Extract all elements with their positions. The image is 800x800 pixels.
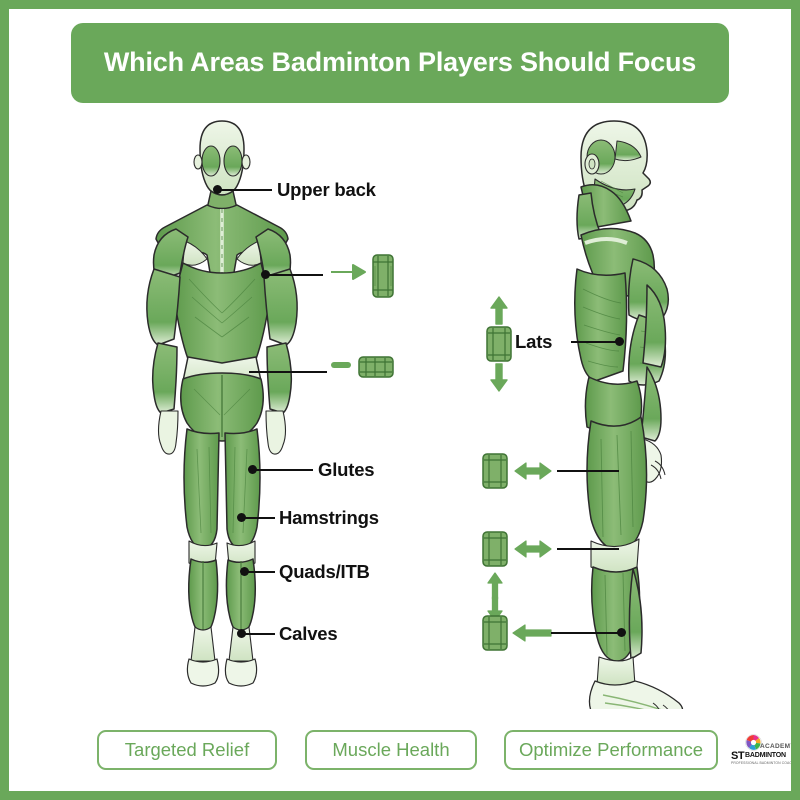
label-upper-back: Upper back (277, 179, 376, 201)
leader-glutes (255, 469, 313, 471)
roller-quad-icon (481, 527, 573, 623)
pill-optimize-performance[interactable]: Optimize Performance (504, 730, 718, 770)
leader-lats (571, 341, 619, 343)
leader-itb (557, 470, 619, 472)
infographic-page: Which Areas Badminton Players Should Foc… (9, 9, 791, 791)
pill-muscle-health[interactable]: Muscle Health (305, 730, 477, 770)
logo-tagline: PROFESSIONAL BADMINTON COACHING FOR ALL … (731, 761, 791, 765)
roller-upper-back-icon (329, 252, 395, 300)
brand-logo[interactable]: ACADEMY ST BADMINTON PROFESSIONAL BADMIN… (731, 734, 791, 772)
label-lats: Lats (515, 331, 552, 353)
label-quads-itb: Quads/ITB (279, 561, 370, 583)
leader-glute-roller (249, 371, 327, 373)
logo-badminton-text: BADMINTON (745, 752, 786, 759)
leader-calves (244, 633, 275, 635)
leader-calf (551, 632, 621, 634)
page-title: Which Areas Badminton Players Should Foc… (104, 47, 696, 78)
roller-glutes-icon (329, 349, 395, 385)
label-hamstrings: Hamstrings (279, 507, 379, 529)
label-glutes: Glutes (318, 459, 374, 481)
marker-calf-right (617, 628, 626, 637)
leader-shoulder-roller (268, 274, 323, 276)
leader-hamstrings (244, 517, 275, 519)
title-banner: Which Areas Badminton Players Should Foc… (71, 23, 729, 103)
footer-bar: Targeted Relief Muscle Health Optimize P… (9, 716, 791, 791)
pill-targeted-relief[interactable]: Targeted Relief (97, 730, 277, 770)
label-calves: Calves (279, 623, 337, 645)
illustration-stage: Upper back (9, 109, 791, 709)
leader-quad (557, 548, 619, 550)
marker-lats (615, 337, 624, 346)
leader-quads-itb (247, 571, 275, 573)
logo-academy-text: ACADEMY (760, 743, 791, 750)
leader-upper-back (220, 189, 272, 191)
